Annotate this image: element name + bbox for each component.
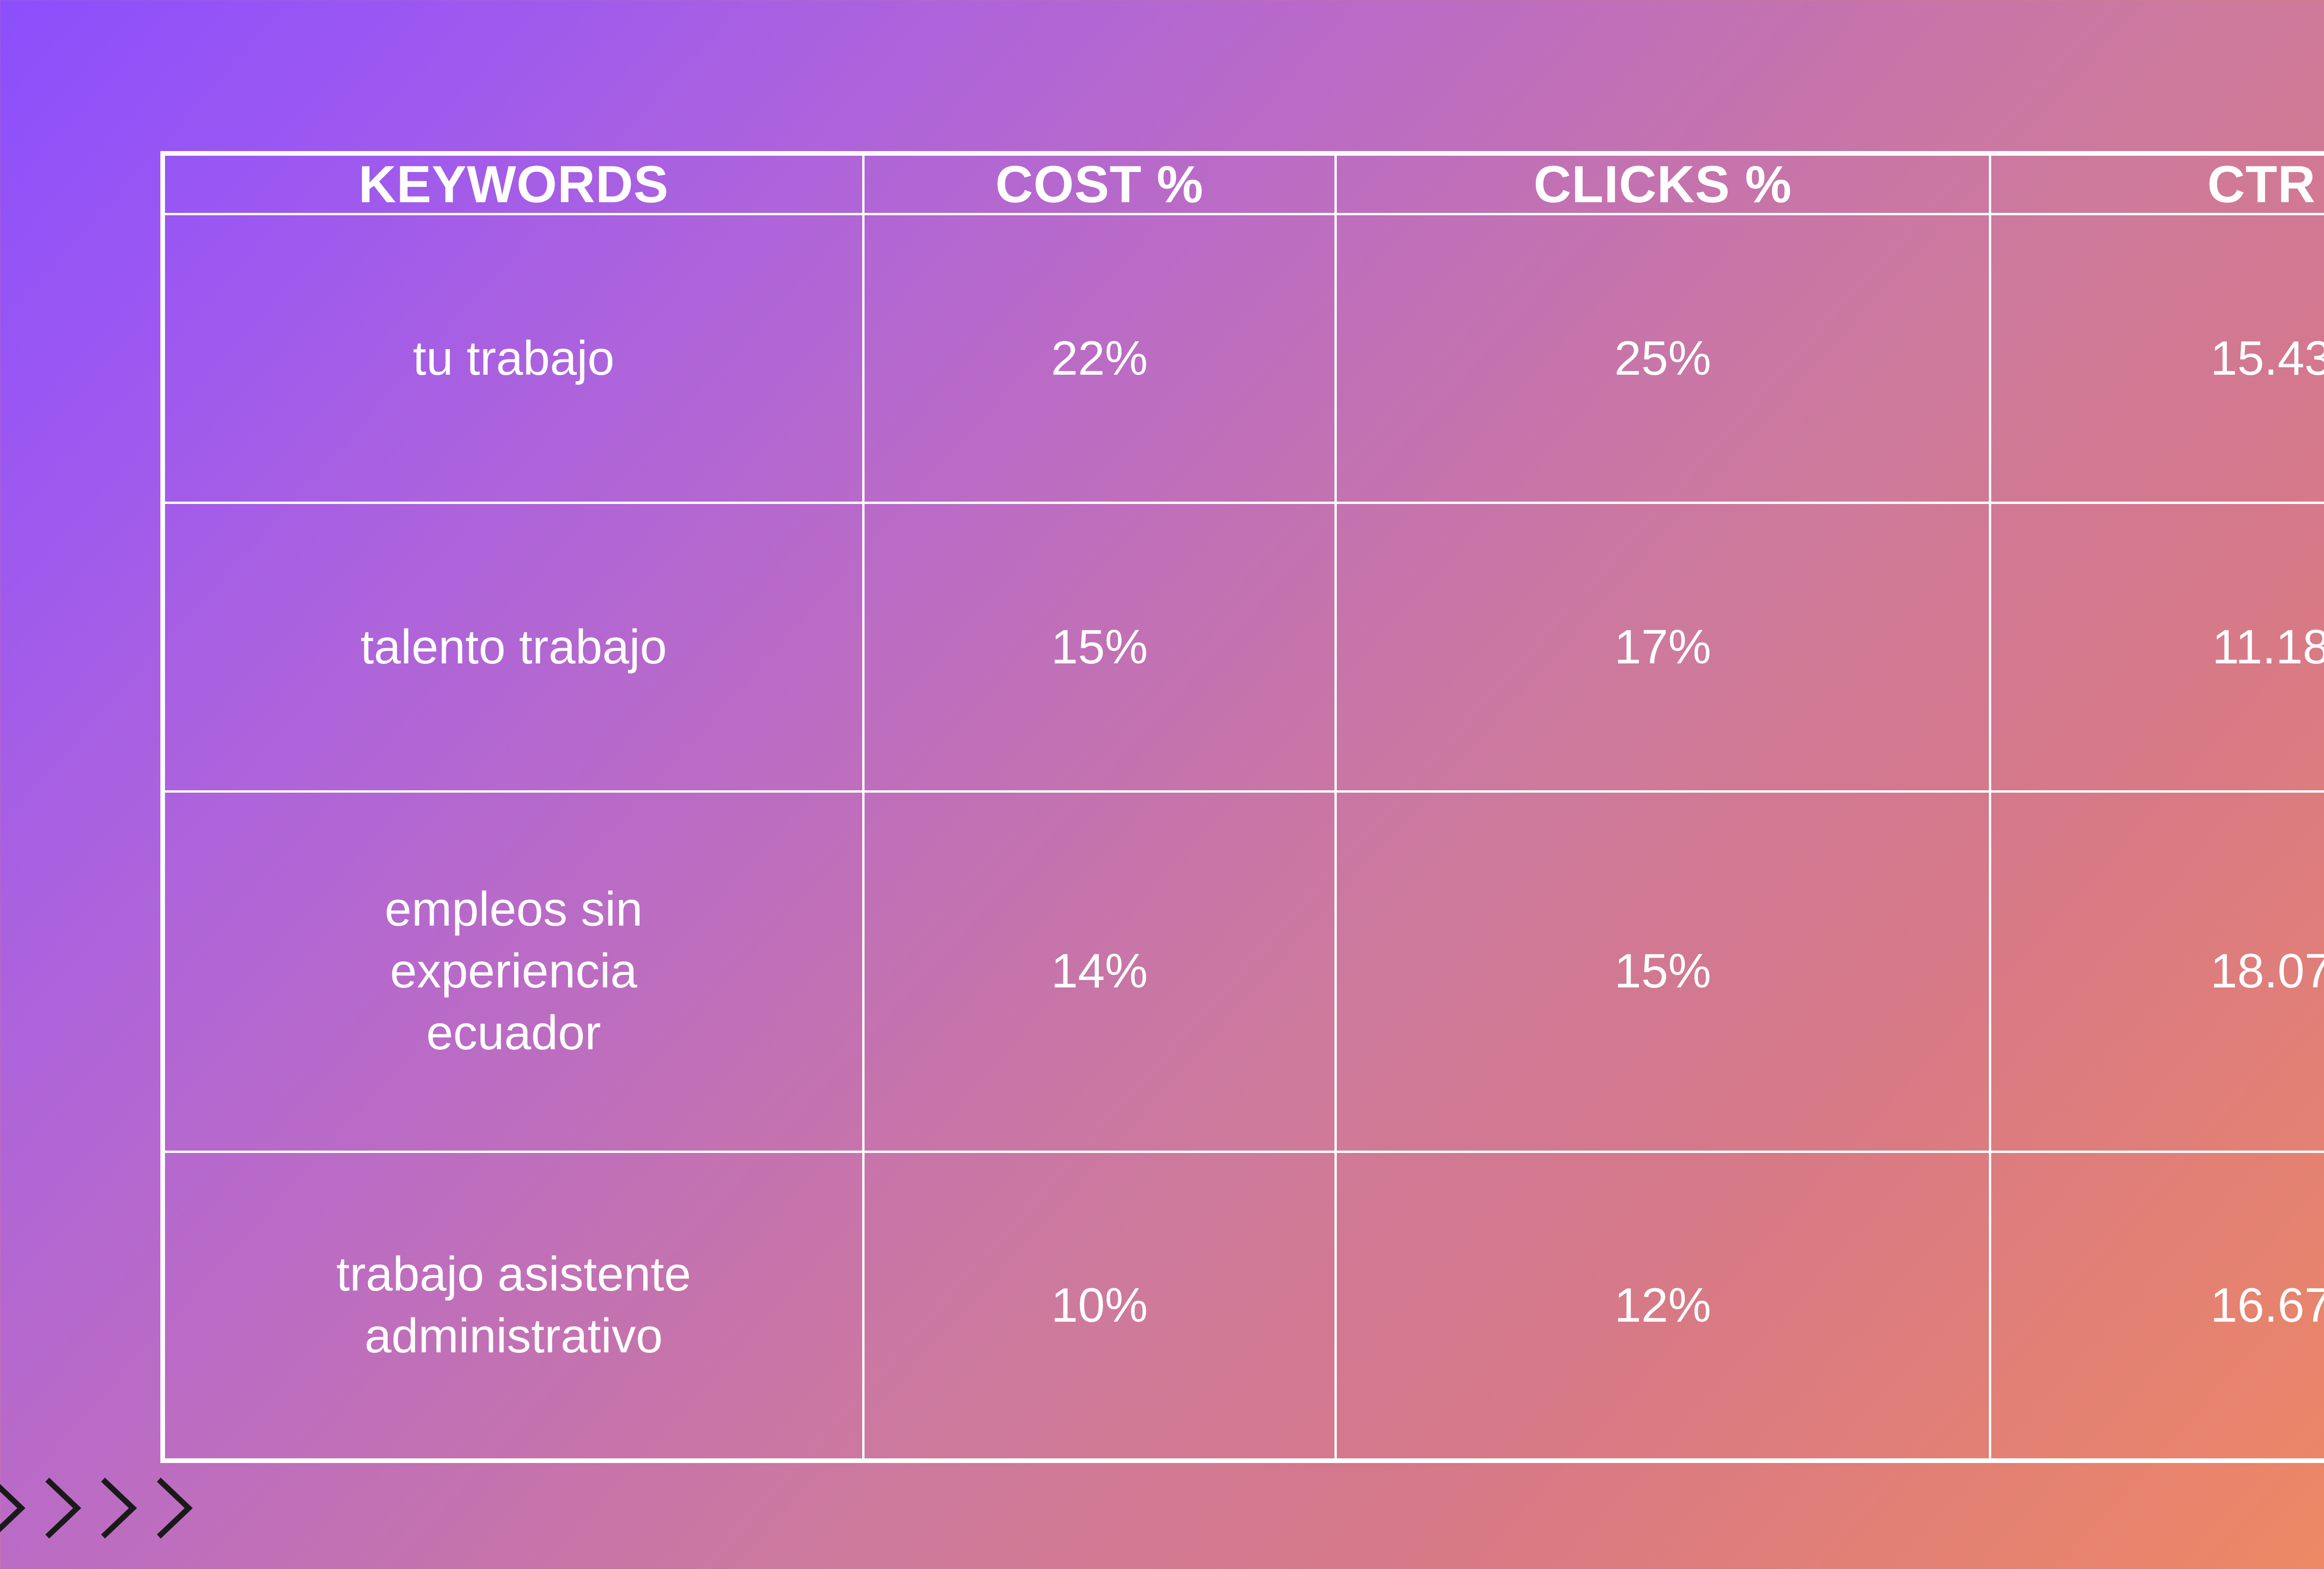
table-row: empleos sin experiencia ecuador 14% 15% … [163,792,2324,1152]
cell-keyword: trabajo asistente administrativo [163,1152,864,1461]
table-row: tu trabajo 22% 25% 15.43% [163,214,2324,503]
chevron-right-icon [147,1473,203,1543]
cell-keyword: tu trabajo [163,214,864,503]
cell-clicks: 17% [1335,503,1990,792]
cell-keyword: empleos sin experiencia ecuador [163,792,864,1152]
table-body: tu trabajo 22% 25% 15.43% talento trabaj… [163,214,2324,1461]
cell-ctr: 11.18% [1990,503,2324,792]
table-header-row: KEYWORDS COST % CLICKS % CTR % [163,153,2324,214]
cell-cost: 10% [864,1152,1336,1461]
cell-cost: 14% [864,792,1336,1152]
table-row: talento trabajo 15% 17% 11.18% [163,503,2324,792]
cell-cost: 15% [864,503,1336,792]
table-header: KEYWORDS COST % CLICKS % CTR % [163,153,2324,214]
column-header-cost: COST % [864,153,1336,214]
chevron-right-icon [0,1473,35,1543]
chevron-group-bottom-left [0,1473,203,1543]
cell-ctr: 16.67% [1990,1152,2324,1461]
column-header-ctr: CTR % [1990,153,2324,214]
table-row: trabajo asistente administrativo 10% 12%… [163,1152,2324,1461]
column-header-clicks: CLICKS % [1335,153,1990,214]
cell-ctr: 15.43% [1990,214,2324,503]
keyword-performance-table-container: KEYWORDS COST % CLICKS % CTR % tu trabaj… [160,151,2324,1463]
column-header-keywords: KEYWORDS [163,153,864,214]
chevron-right-icon [35,1473,91,1543]
cell-ctr: 18.07% [1990,792,2324,1152]
cell-clicks: 15% [1335,792,1990,1152]
cell-cost: 22% [864,214,1336,503]
chevron-right-icon [91,1473,147,1543]
cell-clicks: 25% [1335,214,1990,503]
cell-clicks: 12% [1335,1152,1990,1461]
keyword-performance-table: KEYWORDS COST % CLICKS % CTR % tu trabaj… [160,151,2324,1463]
cell-keyword: talento trabajo [163,503,864,792]
